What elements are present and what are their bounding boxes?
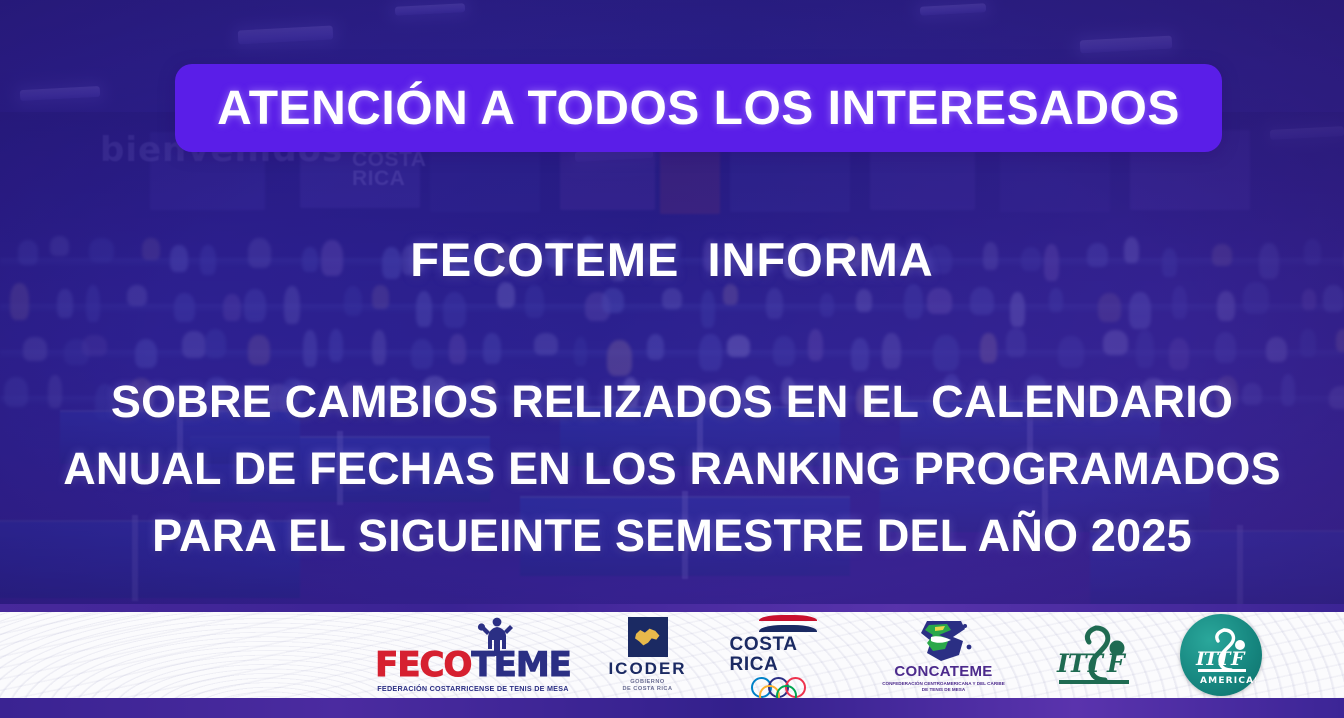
body-line: PARA EL SIGUEINTE SEMESTRE DEL AÑO 2025 bbox=[0, 502, 1344, 569]
subhead-text: FECOTEME INFORMA bbox=[0, 232, 1344, 287]
costa-rica-map-icon bbox=[635, 626, 661, 648]
table-tennis-player-icon bbox=[477, 616, 517, 656]
concateme-wordmark: CONCATEME bbox=[894, 664, 992, 680]
svg-text:AMERICAS: AMERICAS bbox=[1200, 676, 1256, 686]
fecoteme-subtitle: FEDERACIÓN COSTARRICENSE DE TENIS DE MES… bbox=[377, 684, 568, 693]
headline-banner-text: ATENCIÓN A TODOS LOS INTERESADOS bbox=[217, 81, 1180, 136]
costa-rica-flag-icon bbox=[759, 615, 817, 632]
logo-ittf-americas: ITT F AMERICAS bbox=[1178, 612, 1264, 698]
ittf-emblem-icon: ITT F bbox=[1047, 620, 1139, 690]
icoder-wordmark: ICODER bbox=[608, 660, 686, 677]
costa-rica-wordmark: COSTA RICA bbox=[730, 635, 846, 675]
footer-bottom-divider bbox=[0, 698, 1344, 718]
body-line: ANUAL DE FECHAS EN LOS RANKING PROGRAMAD… bbox=[0, 435, 1344, 502]
logo-icoder: ICODER GOBIERNO DE COSTA RICA bbox=[600, 615, 696, 695]
caribbean-map-icon bbox=[915, 617, 973, 663]
logo-concateme: CONCATEME CONFEDERACIÓN CENTROAMERICANA … bbox=[880, 614, 1008, 696]
fecoteme-wordmark: FECO TEME bbox=[375, 648, 571, 682]
headline-banner: ATENCIÓN A TODOS LOS INTERESADOS bbox=[175, 64, 1222, 152]
logo-fecoteme: FECO TEME FEDERACIÓN COSTARRICENSE DE TE… bbox=[381, 617, 566, 693]
ittf-americas-emblem: ITT F AMERICAS bbox=[1180, 614, 1262, 696]
logo-ittf: ITT F bbox=[1042, 616, 1144, 694]
concateme-subtitle: CONFEDERACIÓN CENTROAMERICANA Y DEL CARI… bbox=[882, 681, 1005, 693]
svg-text:ITT: ITT bbox=[1195, 648, 1232, 670]
icoder-subtitle: GOBIERNO DE COSTA RICA bbox=[622, 679, 672, 693]
logo-costa-rica-olympic: COSTA RICA bbox=[730, 615, 846, 695]
icoder-subtitle-line-2: DE COSTA RICA bbox=[622, 686, 672, 693]
footer-top-divider bbox=[0, 604, 1344, 612]
sponsor-logo-row: FECO TEME FEDERACIÓN COSTARRICENSE DE TE… bbox=[0, 612, 1344, 698]
olympic-rings-icon bbox=[751, 677, 825, 695]
concateme-subtitle-line-2: DE TENIS DE MESA bbox=[882, 687, 1005, 693]
svg-text:F: F bbox=[1230, 648, 1246, 670]
body-text-block: SOBRE CAMBIOS RELIZADOS EN EL CALENDARIO… bbox=[0, 368, 1344, 569]
svg-text:F: F bbox=[1106, 649, 1127, 678]
poster-canvas: bienvenidos COSTA RICA ATENCIÓN A TODOS … bbox=[0, 0, 1344, 718]
ittf-americas-icon: ITT F AMERICAS bbox=[1186, 624, 1256, 686]
fecoteme-wordmark-part1: FECO bbox=[375, 648, 471, 682]
footer-logo-bar: FECO TEME FEDERACIÓN COSTARRICENSE DE TE… bbox=[0, 612, 1344, 698]
icoder-emblem bbox=[628, 617, 668, 657]
body-line: SOBRE CAMBIOS RELIZADOS EN EL CALENDARIO bbox=[0, 368, 1344, 435]
svg-text:ITT: ITT bbox=[1056, 649, 1105, 678]
icoder-subtitle-line-1: GOBIERNO bbox=[622, 679, 672, 686]
